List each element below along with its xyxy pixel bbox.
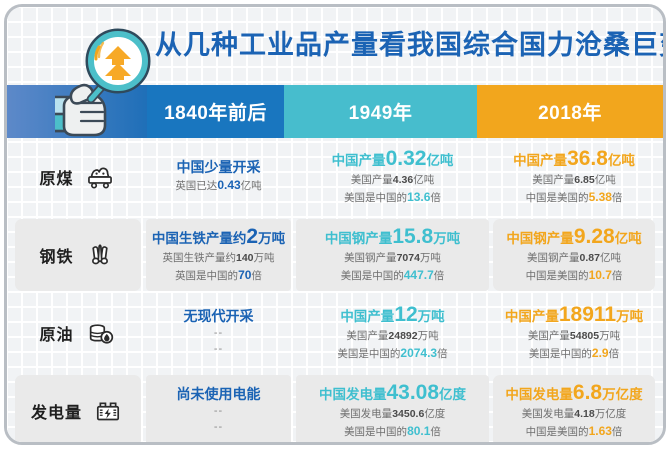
header-col-1949: 1949年 bbox=[284, 85, 477, 138]
value-sub-1: 美国钢产量7074万吨 bbox=[344, 250, 441, 266]
value-main: 中国生铁产量约2万吨 bbox=[152, 225, 285, 250]
value-main: 中国发电量43.08亿度 bbox=[319, 381, 466, 406]
value-main: 中国产量0.32亿吨 bbox=[332, 147, 454, 172]
value-sub-2: 中国是美国的5.38倍 bbox=[526, 188, 623, 207]
table-row: 钢铁 中国生铁产量约2万吨 bbox=[7, 216, 663, 294]
value-sub-2: 美国是中国的2074.3倍 bbox=[337, 344, 447, 363]
poster-frame: 从几种工业品产量看我国综合国力沧桑巨变 bbox=[4, 4, 666, 445]
steel-rolls-icon bbox=[83, 238, 117, 272]
header-col-2018: 2018年 bbox=[477, 85, 663, 138]
infographic-poster: 从几种工业品产量看我国综合国力沧桑巨变 bbox=[0, 0, 670, 449]
cell-power-2018: 中国发电量6.8万亿度 美国发电量4.18万亿度 中国是美国的1.63倍 bbox=[493, 375, 655, 445]
cell-steel-1949: 中国钢产量15.8万吨 美国钢产量7074万吨 美国是中国的447.7倍 bbox=[296, 219, 489, 291]
value-sub-2: -- bbox=[214, 419, 223, 436]
cell-oil-1949: 中国产量12万吨 美国产量24892万吨 美国是中国的2074.3倍 bbox=[296, 297, 489, 369]
value-main: 中国产量18911万吨 bbox=[505, 303, 643, 328]
cell-power-1949: 中国发电量43.08亿度 美国发电量3450.6亿度 美国是中国的80.1倍 bbox=[296, 375, 489, 445]
cell-coal-1840: 中国少量开采 英国已达0.43亿吨 bbox=[146, 141, 291, 213]
value-main: 中国发电量6.8万亿度 bbox=[505, 381, 642, 406]
row-label-coal: 原煤 bbox=[15, 141, 141, 213]
value-sub-1: 美国产量4.36亿吨 bbox=[351, 172, 434, 188]
row-name: 钢铁 bbox=[39, 243, 73, 267]
cell-coal-1949: 中国产量0.32亿吨 美国产量4.36亿吨 美国是中国的13.6倍 bbox=[296, 141, 489, 213]
header-col-1840: 1840年前后 bbox=[147, 85, 284, 138]
value-sub-1: 美国产量6.85亿吨 bbox=[532, 172, 615, 188]
value-sub-1: 美国发电量3450.6亿度 bbox=[340, 406, 446, 422]
value-sub-2: 英国是中国的70倍 bbox=[175, 266, 262, 285]
value-sub-1: 英国生铁产量约140万吨 bbox=[162, 250, 274, 266]
value-sub-2: 美国是中国的13.6倍 bbox=[344, 188, 441, 207]
value-sub-1: -- bbox=[214, 325, 223, 342]
value-sub-1: 美国产量54805万吨 bbox=[528, 328, 620, 344]
value-sub-2: 美国是中国的447.7倍 bbox=[341, 266, 445, 285]
cell-steel-2018: 中国钢产量9.28亿吨 美国钢产量0.87亿吨 中国是美国的10.7倍 bbox=[493, 219, 655, 291]
value-main: 中国钢产量15.8万吨 bbox=[325, 225, 460, 250]
data-rows: 原煤 中国少量开采 英国已达0.43亿吨 bbox=[7, 138, 663, 442]
table-row: 原油 无现代开采 -- -- bbox=[7, 294, 663, 372]
row-label-power: 发电量 bbox=[15, 375, 141, 445]
row-label-steel: 钢铁 bbox=[15, 219, 141, 291]
oil-barrel-icon bbox=[83, 316, 117, 350]
value-sub-2: -- bbox=[214, 341, 223, 358]
row-name: 原油 bbox=[39, 321, 73, 345]
cell-coal-2018: 中国产量36.8亿吨 美国产量6.85亿吨 中国是美国的5.38倍 bbox=[493, 141, 655, 213]
cell-steel-1840: 中国生铁产量约2万吨 英国生铁产量约140万吨 英国是中国的70倍 bbox=[146, 219, 291, 291]
value-main: 中国产量36.8亿吨 bbox=[513, 147, 635, 172]
cell-oil-2018: 中国产量18911万吨 美国产量54805万吨 美国是中国的2.9倍 bbox=[493, 297, 655, 369]
cell-power-1840: 尚未使用电能 -- -- bbox=[146, 375, 291, 445]
value-sub-1: 美国产量24892万吨 bbox=[346, 328, 438, 344]
value-main: 无现代开采 bbox=[184, 308, 254, 325]
value-main: 尚未使用电能 bbox=[177, 386, 261, 403]
row-name: 发电量 bbox=[31, 399, 82, 423]
value-sub-1: 英国已达0.43亿吨 bbox=[175, 176, 261, 195]
value-main: 中国少量开采 bbox=[177, 159, 261, 176]
table-row: 发电量 尚未使用电能 -- bbox=[7, 372, 663, 445]
value-sub-1: 美国钢产量0.87亿吨 bbox=[527, 250, 621, 266]
value-main: 中国钢产量9.28亿吨 bbox=[506, 225, 641, 250]
table-row: 原煤 中国少量开采 英国已达0.43亿吨 bbox=[7, 138, 663, 216]
cell-oil-1840: 无现代开采 -- -- bbox=[146, 297, 291, 369]
magnifier-up-arrows-icon bbox=[55, 13, 155, 141]
row-name: 原煤 bbox=[39, 165, 73, 189]
value-sub-2: 中国是美国的10.7倍 bbox=[526, 266, 623, 285]
page-title: 从几种工业品产量看我国综合国力沧桑巨变 bbox=[155, 23, 655, 67]
value-sub-1: 美国发电量4.18万亿度 bbox=[522, 406, 626, 422]
battery-bolt-icon bbox=[91, 394, 125, 428]
coal-cart-icon bbox=[83, 160, 117, 194]
value-sub-1: -- bbox=[214, 403, 223, 420]
value-sub-2: 中国是美国的1.63倍 bbox=[526, 422, 623, 441]
row-label-oil: 原油 bbox=[15, 297, 141, 369]
value-sub-2: 美国是中国的80.1倍 bbox=[344, 422, 441, 441]
value-sub-2: 美国是中国的2.9倍 bbox=[529, 344, 619, 363]
value-main: 中国产量12万吨 bbox=[340, 303, 444, 328]
